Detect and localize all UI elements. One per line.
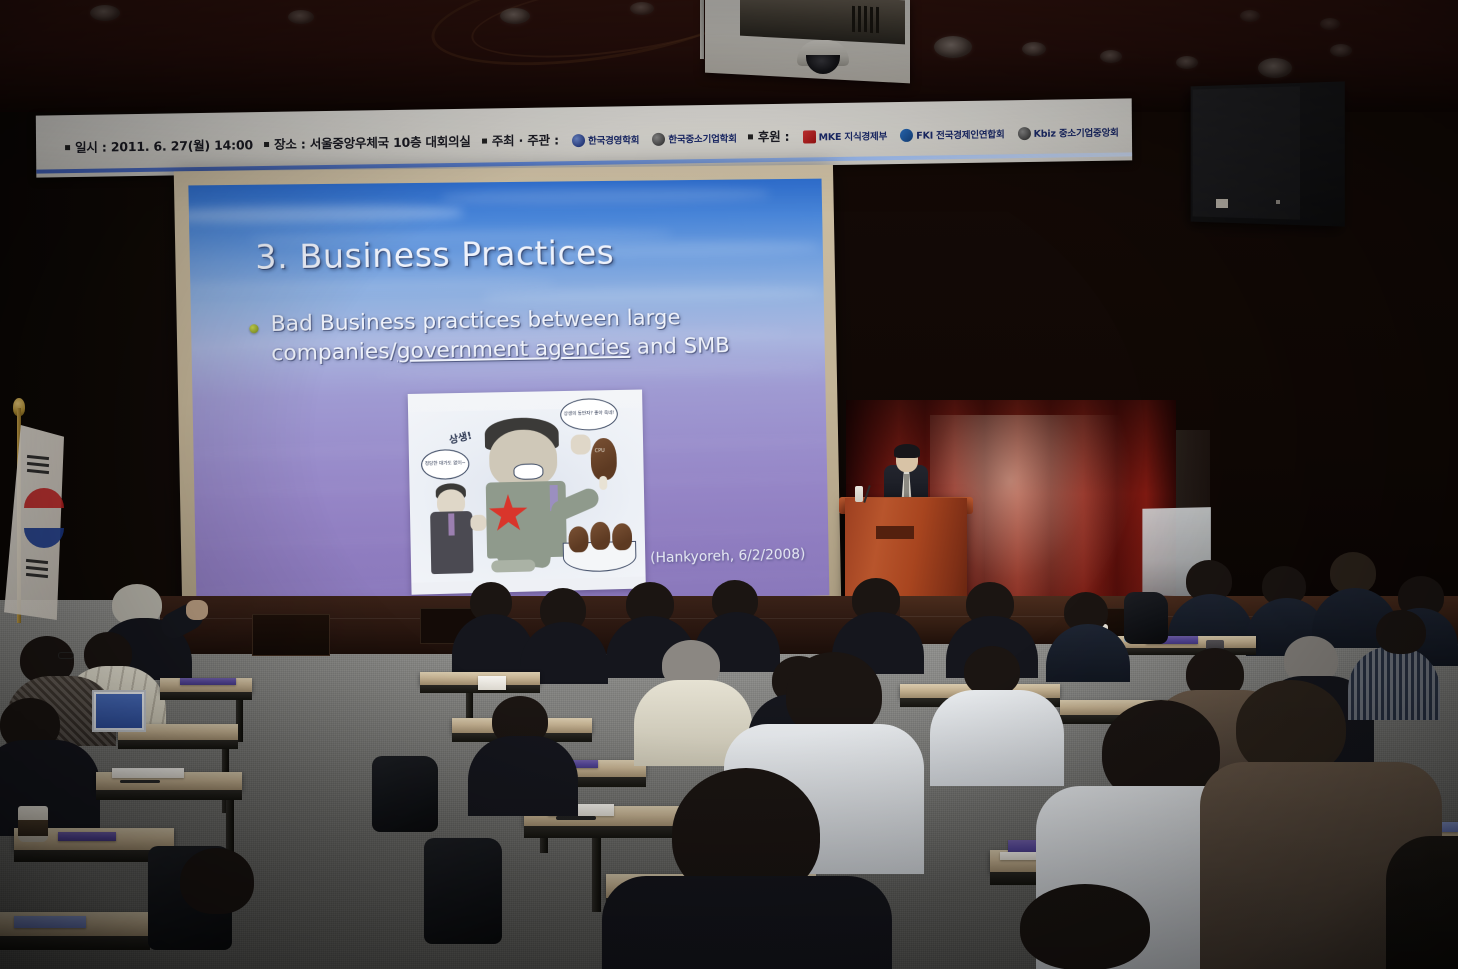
cartoon-small-man-hand — [470, 515, 486, 531]
sponsor-name-2: FKI 전국경제인연합회 — [916, 126, 1004, 141]
banner-bullet-square — [264, 141, 269, 146]
cartoon-chicken-bone — [599, 476, 607, 490]
sponsor-logo-mark-icon — [1018, 126, 1031, 139]
sponsor-name-1: MKE 지식경제부 — [819, 128, 888, 143]
pen — [120, 780, 160, 783]
pen — [556, 816, 596, 820]
cartoon-chicken-in-bowl — [590, 522, 610, 550]
banner-colon: : — [780, 128, 793, 143]
slide-bullet-dot-icon — [249, 324, 258, 333]
cloud — [188, 205, 462, 225]
banner-date-value: 2011. 6. 27(월) 14:00 — [111, 137, 253, 154]
speaker-indicator-led — [1276, 200, 1280, 204]
banner-bullet-square — [748, 134, 753, 139]
audience-table-edge — [0, 936, 150, 950]
ceiling-downlight — [90, 5, 120, 21]
attendee-head-foreground — [1020, 884, 1150, 969]
podium-water-bottle — [855, 486, 863, 502]
sponsor-logo-kbiz: Kbiz 중소기업중앙회 — [1018, 125, 1119, 141]
projection-screen-frame: 3. Business Practices Bad Business pract… — [174, 165, 842, 630]
attendee-glasses-icon — [58, 652, 74, 659]
cartoon-big-man-mouth — [513, 463, 543, 480]
sponsor-logo-mke: MKE 지식경제부 — [803, 128, 888, 143]
backpack — [424, 838, 502, 944]
handout-paper — [112, 768, 184, 778]
presenter-tie — [904, 474, 909, 498]
audience-table-edge — [118, 740, 238, 749]
ceiling-downlight — [1320, 18, 1340, 30]
attendee-body-foreground — [602, 876, 892, 969]
ceiling-downlight — [1240, 10, 1260, 22]
conference-booklet — [58, 832, 116, 841]
banner-sponsor-label: 후원 — [758, 128, 781, 143]
slide-cartoon-image: 정당한 대가도 없이~ 상생! 상생의 동반자? 좋아 죽네! — [408, 390, 646, 595]
laptop-screen-content — [96, 694, 142, 728]
attendee-body — [0, 740, 100, 836]
banner-colon: : — [98, 139, 111, 154]
cartoon-cpu-label: CPU — [595, 448, 605, 454]
speaker-grille — [1193, 86, 1300, 219]
ceiling-downlight — [1100, 50, 1122, 63]
attendee-body — [930, 690, 1064, 786]
host-logo-mark-icon — [572, 133, 585, 146]
host-logo-mark-icon — [652, 132, 665, 145]
ceiling-downlight — [1258, 58, 1292, 78]
conference-booklet — [180, 678, 236, 685]
projector-vent — [870, 7, 873, 33]
ceiling-downlight — [934, 36, 972, 58]
host-name-2: 한국중소기업학회 — [668, 131, 736, 146]
slide-bullet-text: Bad Business practices between large com… — [270, 302, 789, 369]
audience-table-edge — [160, 692, 252, 700]
banner-bullet-square — [65, 145, 70, 150]
attendee-head — [1376, 610, 1426, 654]
cartoon-chicken-in-bowl — [568, 526, 588, 552]
attendee-body-striped-shirt — [1348, 646, 1440, 720]
banner-date-label: 일시 — [75, 139, 98, 154]
cloud — [484, 285, 820, 303]
table-leg — [592, 838, 601, 912]
conference-booklet — [14, 916, 86, 928]
coffee-cup-sleeve — [18, 820, 48, 836]
ceiling-downlight — [1330, 44, 1352, 57]
banner-colon: : — [297, 136, 310, 151]
banner-text-block: 일시 : 2011. 6. 27(월) 14:00 장소 : 서울중앙우체국 1… — [58, 117, 1132, 156]
banner-bullet-square — [482, 138, 487, 143]
name-card — [478, 676, 506, 690]
projection-screen-surface: 3. Business Practices Bad Business pract… — [188, 179, 829, 613]
cartoon-big-man-shoe — [491, 559, 535, 572]
attendee-body-foreground — [1386, 836, 1458, 969]
sponsor-name-3: Kbiz 중소기업중앙회 — [1034, 125, 1119, 140]
banner-host-label: 주최 · 주관 — [492, 132, 550, 148]
cloud — [442, 187, 769, 205]
ceiling-downlight — [288, 10, 314, 24]
stage-wall-vent — [252, 614, 330, 656]
banner-venue-value: 서울중앙우체국 10층 대회의실 — [310, 133, 471, 151]
attendee-head — [964, 646, 1020, 696]
conference-hall-scene: 일시 : 2011. 6. 27(월) 14:00 장소 : 서울중앙우체국 1… — [0, 0, 1458, 969]
backpack — [372, 756, 438, 832]
cartoon-chicken-leg — [590, 438, 617, 480]
cloud — [188, 277, 553, 294]
jbl-logo — [1216, 199, 1228, 208]
cartoon-small-man-tie — [448, 513, 454, 535]
sponsor-logo-mark-icon — [803, 130, 816, 143]
slide-citation: (Hankyoreh, 6/2/2008) — [650, 547, 805, 567]
podium-shelf — [876, 526, 914, 539]
slide-title: 3. Business Practices — [255, 233, 615, 277]
host-logo-kosbi: 한국중소기업학회 — [652, 131, 736, 146]
bullet-underlined-phrase: government agencies — [397, 335, 631, 364]
ceiling-downlight — [1176, 56, 1198, 69]
cartoon-big-man-hand-raised — [571, 434, 591, 454]
bullet-part-2: and SMB — [630, 333, 730, 360]
projector-vent — [864, 6, 867, 32]
projector-vent — [876, 7, 879, 33]
host-logo-kasba: 한국경영학회 — [572, 132, 639, 147]
projector-vent — [858, 6, 861, 32]
host-name-1: 한국경영학회 — [588, 132, 639, 147]
ceiling-downlight — [500, 8, 530, 24]
ceiling-downlight — [1022, 42, 1046, 56]
cartoon-chicken-in-bowl — [612, 523, 632, 550]
presenter-hair — [894, 444, 920, 458]
attendee-head-foreground — [180, 848, 254, 914]
projector-vent — [852, 6, 855, 32]
sponsor-logo-mark-icon — [900, 128, 913, 141]
ceiling-downlight — [630, 2, 654, 15]
attendee-hand — [186, 600, 208, 620]
banner-colon: : — [550, 132, 563, 147]
attendee-body — [468, 736, 578, 816]
audience-table-edge — [96, 790, 242, 800]
backpack — [1124, 592, 1168, 644]
sponsor-logo-fki: FKI 전국경제인연합회 — [900, 126, 1004, 142]
banner-venue-label: 장소 — [274, 136, 297, 151]
